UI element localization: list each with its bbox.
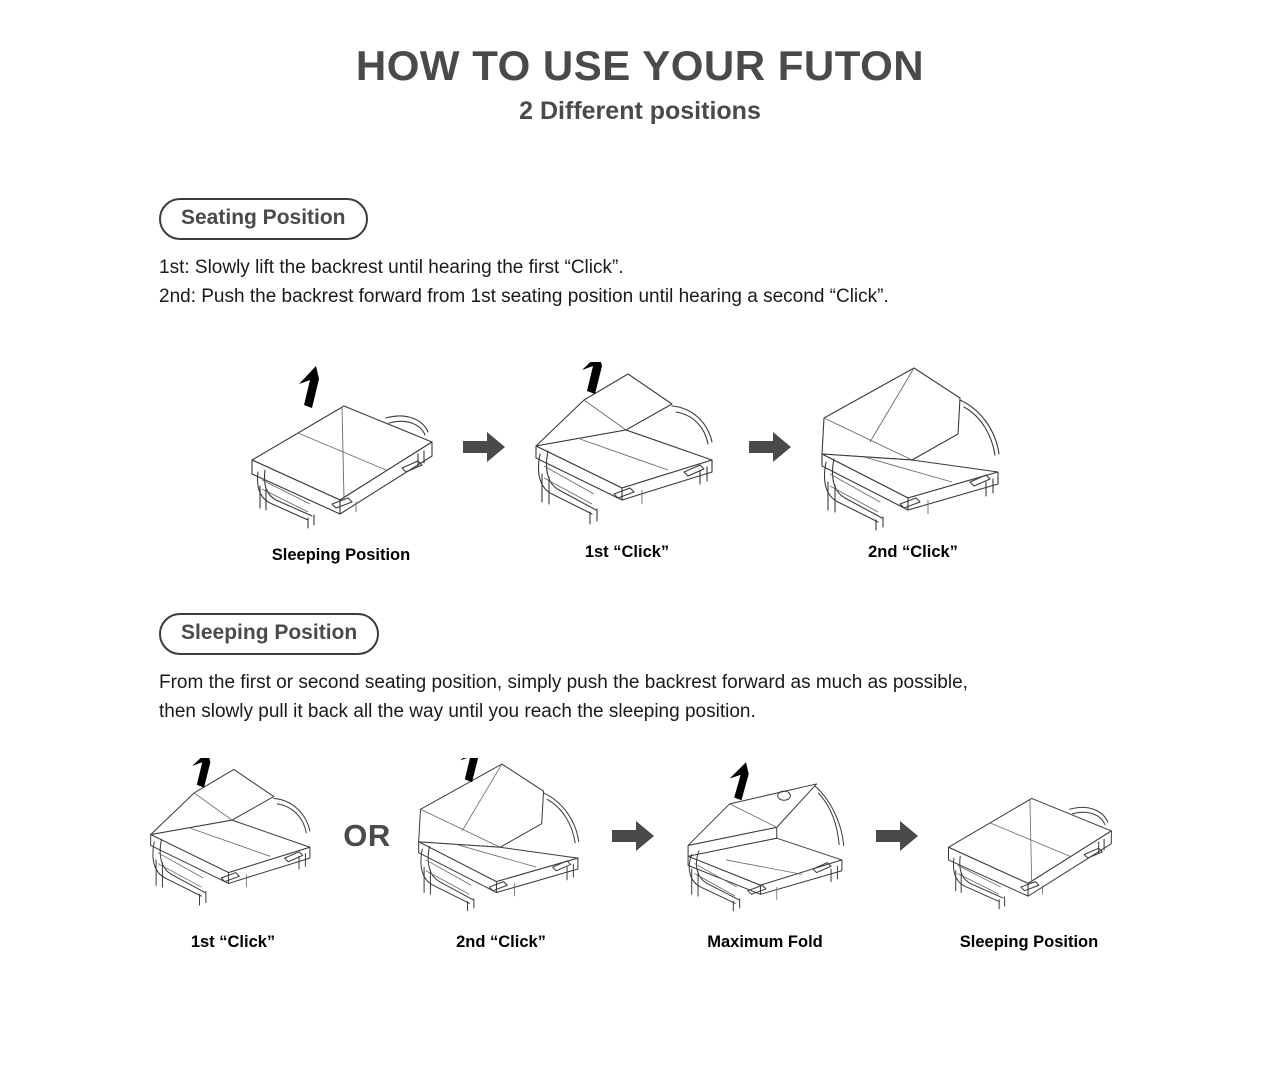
section-badge-seating: Seating Position <box>159 198 368 240</box>
gray-right-arrow-icon <box>874 819 920 853</box>
futon-illustration-maximum-fold <box>670 758 860 913</box>
page-header: HOW TO USE YOUR FUTON 2 Different positi… <box>0 0 1280 126</box>
sleeping-diagram-row: 1st “Click” OR <box>138 758 1124 952</box>
panel-label-first-click-top: 1st “Click” <box>585 543 669 562</box>
panel-label-sleeping-position-bottom: Sleeping Position <box>960 933 1098 952</box>
futon-illustration-flat-bed <box>236 362 446 532</box>
seating-instructions: 1st: Slowly lift the backrest until hear… <box>159 254 889 311</box>
sleeping-position-section: Sleeping Position From the first or seco… <box>159 613 968 726</box>
futon-illustration-flat-bed <box>934 758 1124 913</box>
gray-right-arrow-icon <box>461 430 507 464</box>
sleeping-instruction-line-1: From the first or second seating positio… <box>159 669 968 698</box>
panel-label-first-click-bottom: 1st “Click” <box>191 933 275 952</box>
futon-illustration-upright-sofa <box>808 362 1018 532</box>
panel-label-second-click-top: 2nd “Click” <box>868 543 958 562</box>
futon-illustration-upright-sofa <box>406 758 596 913</box>
diagram-panel-maximum-fold: Maximum Fold <box>670 758 860 952</box>
sleeping-instruction-line-2: then slowly pull it back all the way unt… <box>159 698 968 727</box>
connector-or: OR <box>328 758 406 913</box>
diagram-panel-first-click-top: 1st “Click” <box>522 362 732 562</box>
futon-illustration-reclined <box>522 362 732 532</box>
panel-label-sleeping-position-top: Sleeping Position <box>272 546 410 565</box>
page-title: HOW TO USE YOUR FUTON <box>0 44 1280 88</box>
diagram-panel-first-click-bottom: 1st “Click” <box>138 758 328 952</box>
panel-label-second-click-bottom: 2nd “Click” <box>456 933 546 952</box>
futon-illustration-reclined <box>138 758 328 913</box>
connector-arrow-1 <box>446 362 522 532</box>
or-label: OR <box>343 818 391 854</box>
sleeping-instructions: From the first or second seating positio… <box>159 669 968 726</box>
gray-right-arrow-icon <box>610 819 656 853</box>
connector-arrow-2 <box>732 362 808 532</box>
seating-instruction-line-2: 2nd: Push the backrest forward from 1st … <box>159 283 889 312</box>
section-badge-sleeping: Sleeping Position <box>159 613 379 655</box>
seating-position-section: Seating Position 1st: Slowly lift the ba… <box>159 198 889 311</box>
connector-arrow-4 <box>860 758 934 913</box>
panel-label-maximum-fold: Maximum Fold <box>707 933 823 952</box>
diagram-panel-sleeping-position-top: Sleeping Position <box>236 362 446 565</box>
seating-diagram-row: Sleeping Position <box>236 362 1018 565</box>
diagram-panel-second-click-top: 2nd “Click” <box>808 362 1018 562</box>
seating-instruction-line-1: 1st: Slowly lift the backrest until hear… <box>159 254 889 283</box>
diagram-panel-sleeping-position-bottom: Sleeping Position <box>934 758 1124 952</box>
page-subtitle: 2 Different positions <box>0 98 1280 126</box>
gray-right-arrow-icon <box>747 430 793 464</box>
connector-arrow-3 <box>596 758 670 913</box>
diagram-panel-second-click-bottom: 2nd “Click” <box>406 758 596 952</box>
